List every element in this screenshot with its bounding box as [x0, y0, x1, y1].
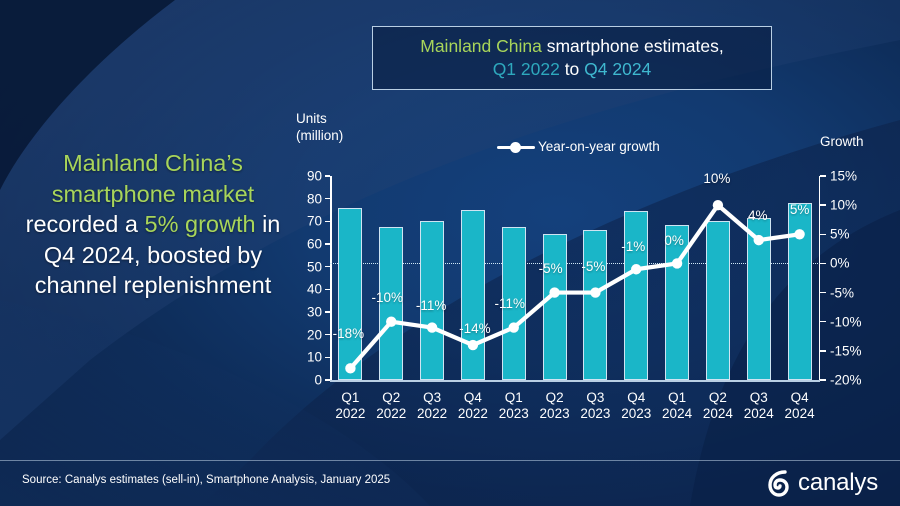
x-axis-label-quarter: Q1 — [668, 390, 686, 405]
x-axis-label-quarter: Q2 — [546, 390, 564, 405]
headline-part-2: recorded a — [26, 211, 145, 237]
growth-line-path — [350, 205, 799, 368]
line-marker-icon — [497, 141, 535, 153]
y-axis-tick-right: -20% — [830, 373, 870, 388]
growth-data-label: -11% — [416, 298, 447, 313]
x-axis-label-year: 2022 — [376, 406, 406, 421]
y-axis-tick-right: -15% — [830, 343, 870, 358]
headline-part-3: 5% growth — [145, 211, 256, 237]
chart-plot-area: 908070605040302010015%10%5%0%-5%-10%-15%… — [330, 176, 820, 380]
x-axis-label-quarter: Q2 — [382, 390, 400, 405]
growth-line-marker — [672, 258, 682, 268]
title-line1-highlight: Mainland China — [420, 36, 542, 56]
title-line2-mid: to — [560, 59, 584, 79]
growth-line-marker — [427, 322, 437, 332]
x-axis-label-year: 2023 — [621, 406, 651, 421]
growth-data-label: 4% — [748, 208, 768, 223]
source-note: Source: Canalys estimates (sell-in), Sma… — [22, 474, 390, 486]
growth-data-label: 5% — [790, 202, 810, 217]
y-axis-tick-right: 0% — [830, 256, 870, 271]
x-axis-label-quarter: Q3 — [423, 390, 441, 405]
y-axis-tick-left: 40 — [292, 282, 322, 297]
x-axis-label-year: 2022 — [417, 406, 447, 421]
brand-name: canalys — [798, 469, 878, 497]
x-axis-label: Q22022 — [369, 390, 413, 423]
title-line2-start: Q1 2022 — [493, 59, 560, 79]
y-axis-tick-left: 10 — [292, 350, 322, 365]
headline-text: Mainland China’s smartphone market recor… — [8, 148, 298, 301]
growth-line-marker — [590, 287, 600, 297]
x-axis-label: Q22024 — [696, 390, 740, 423]
x-axis-label-quarter: Q4 — [464, 390, 482, 405]
x-axis-label: Q22023 — [533, 390, 577, 423]
growth-data-label: 10% — [703, 171, 730, 186]
x-axis-label: Q32022 — [410, 390, 454, 423]
growth-data-label: 0% — [664, 233, 684, 248]
canalys-logo-icon — [766, 469, 792, 497]
growth-data-label: -14% — [459, 321, 491, 336]
x-axis-label-quarter: Q3 — [750, 390, 768, 405]
x-axis-label-year: 2024 — [662, 406, 692, 421]
chart-title: Mainland China smartphone estimates, Q1 … — [420, 35, 724, 81]
slide-canvas: Mainland China smartphone estimates, Q1 … — [0, 0, 900, 506]
left-axis-caption: Units (million) — [296, 110, 343, 145]
chart-title-box: Mainland China smartphone estimates, Q1 … — [372, 26, 772, 90]
x-axis-label: Q12022 — [328, 390, 372, 423]
y-axis-tick-left: 20 — [292, 327, 322, 342]
growth-data-label: -10% — [371, 290, 403, 305]
x-axis-label-year: 2024 — [785, 406, 815, 421]
x-axis-label-year: 2022 — [458, 406, 488, 421]
x-axis-label-quarter: Q1 — [505, 390, 523, 405]
x-axis-label-quarter: Q4 — [627, 390, 645, 405]
x-axis-label: Q42023 — [614, 390, 658, 423]
growth-line-marker — [386, 317, 396, 327]
growth-line-marker — [468, 340, 478, 350]
y-axis-tick-right: 10% — [830, 198, 870, 213]
growth-line-marker — [631, 264, 641, 274]
x-axis-label-quarter: Q3 — [586, 390, 604, 405]
x-axis-label-year: 2023 — [540, 406, 570, 421]
y-axis-tick-left: 60 — [292, 237, 322, 252]
headline-part-1: Mainland China’s smartphone market — [52, 150, 254, 207]
growth-line-marker — [754, 235, 764, 245]
chart-legend: Year-on-year growth — [497, 139, 660, 154]
growth-line-marker — [713, 200, 723, 210]
y-axis-tickmark-right — [820, 350, 826, 352]
y-axis-tickmark-right — [820, 234, 826, 236]
growth-line-marker — [509, 322, 519, 332]
growth-data-label: -5% — [539, 261, 563, 276]
x-axis-label: Q12023 — [492, 390, 536, 423]
y-axis-tick-left: 80 — [292, 191, 322, 206]
y-axis-tickmark-right — [820, 379, 826, 381]
x-axis-label-year: 2024 — [744, 406, 774, 421]
brand-logo: canalys — [766, 469, 878, 497]
growth-line-marker — [794, 229, 804, 239]
y-axis-tick-left: 0 — [292, 373, 322, 388]
growth-line-marker — [345, 363, 355, 373]
growth-data-label: -5% — [581, 259, 605, 274]
y-axis-tick-right: 15% — [830, 169, 870, 184]
growth-data-label: -11% — [494, 296, 525, 311]
growth-data-label: -18% — [333, 326, 365, 341]
y-axis-tick-right: -5% — [830, 285, 870, 300]
growth-data-label: -1% — [621, 239, 645, 254]
x-axis-line — [330, 380, 820, 382]
growth-line-series — [330, 176, 820, 380]
legend-label-growth: Year-on-year growth — [538, 139, 660, 154]
y-axis-tick-right: 5% — [830, 227, 870, 242]
x-axis-label-year: 2022 — [335, 406, 365, 421]
title-line1-rest: smartphone estimates, — [542, 36, 724, 56]
x-axis-label-quarter: Q1 — [341, 390, 359, 405]
x-axis-label-year: 2024 — [703, 406, 733, 421]
y-axis-tick-left: 70 — [292, 214, 322, 229]
slide-footer: Source: Canalys estimates (sell-in), Sma… — [0, 460, 900, 506]
x-axis-label-year: 2023 — [499, 406, 529, 421]
left-axis-caption-line1: Units — [296, 110, 343, 127]
y-axis-tick-left: 30 — [292, 305, 322, 320]
x-axis-label-quarter: Q4 — [791, 390, 809, 405]
x-axis-label: Q32023 — [573, 390, 617, 423]
growth-line-marker — [549, 287, 559, 297]
x-axis-label-year: 2023 — [580, 406, 610, 421]
title-line2-end: Q4 2024 — [584, 59, 651, 79]
x-axis-label: Q42022 — [451, 390, 495, 423]
y-axis-tickmark-right — [820, 175, 826, 177]
x-axis-label-quarter: Q2 — [709, 390, 727, 405]
x-axis-label: Q42024 — [778, 390, 822, 423]
y-axis-tickmark-right — [820, 321, 826, 323]
y-axis-tickmark-right — [820, 292, 826, 294]
x-axis-label: Q12024 — [655, 390, 699, 423]
left-axis-caption-line2: (million) — [296, 127, 343, 144]
y-axis-tickmark-right — [820, 204, 826, 206]
y-axis-tick-left: 90 — [292, 169, 322, 184]
y-axis-tick-right: -10% — [830, 314, 870, 329]
y-axis-tick-left: 50 — [292, 259, 322, 274]
x-axis-label: Q32024 — [737, 390, 781, 423]
right-axis-caption: Growth — [820, 133, 864, 150]
y-axis-tickmark-right — [820, 263, 826, 265]
